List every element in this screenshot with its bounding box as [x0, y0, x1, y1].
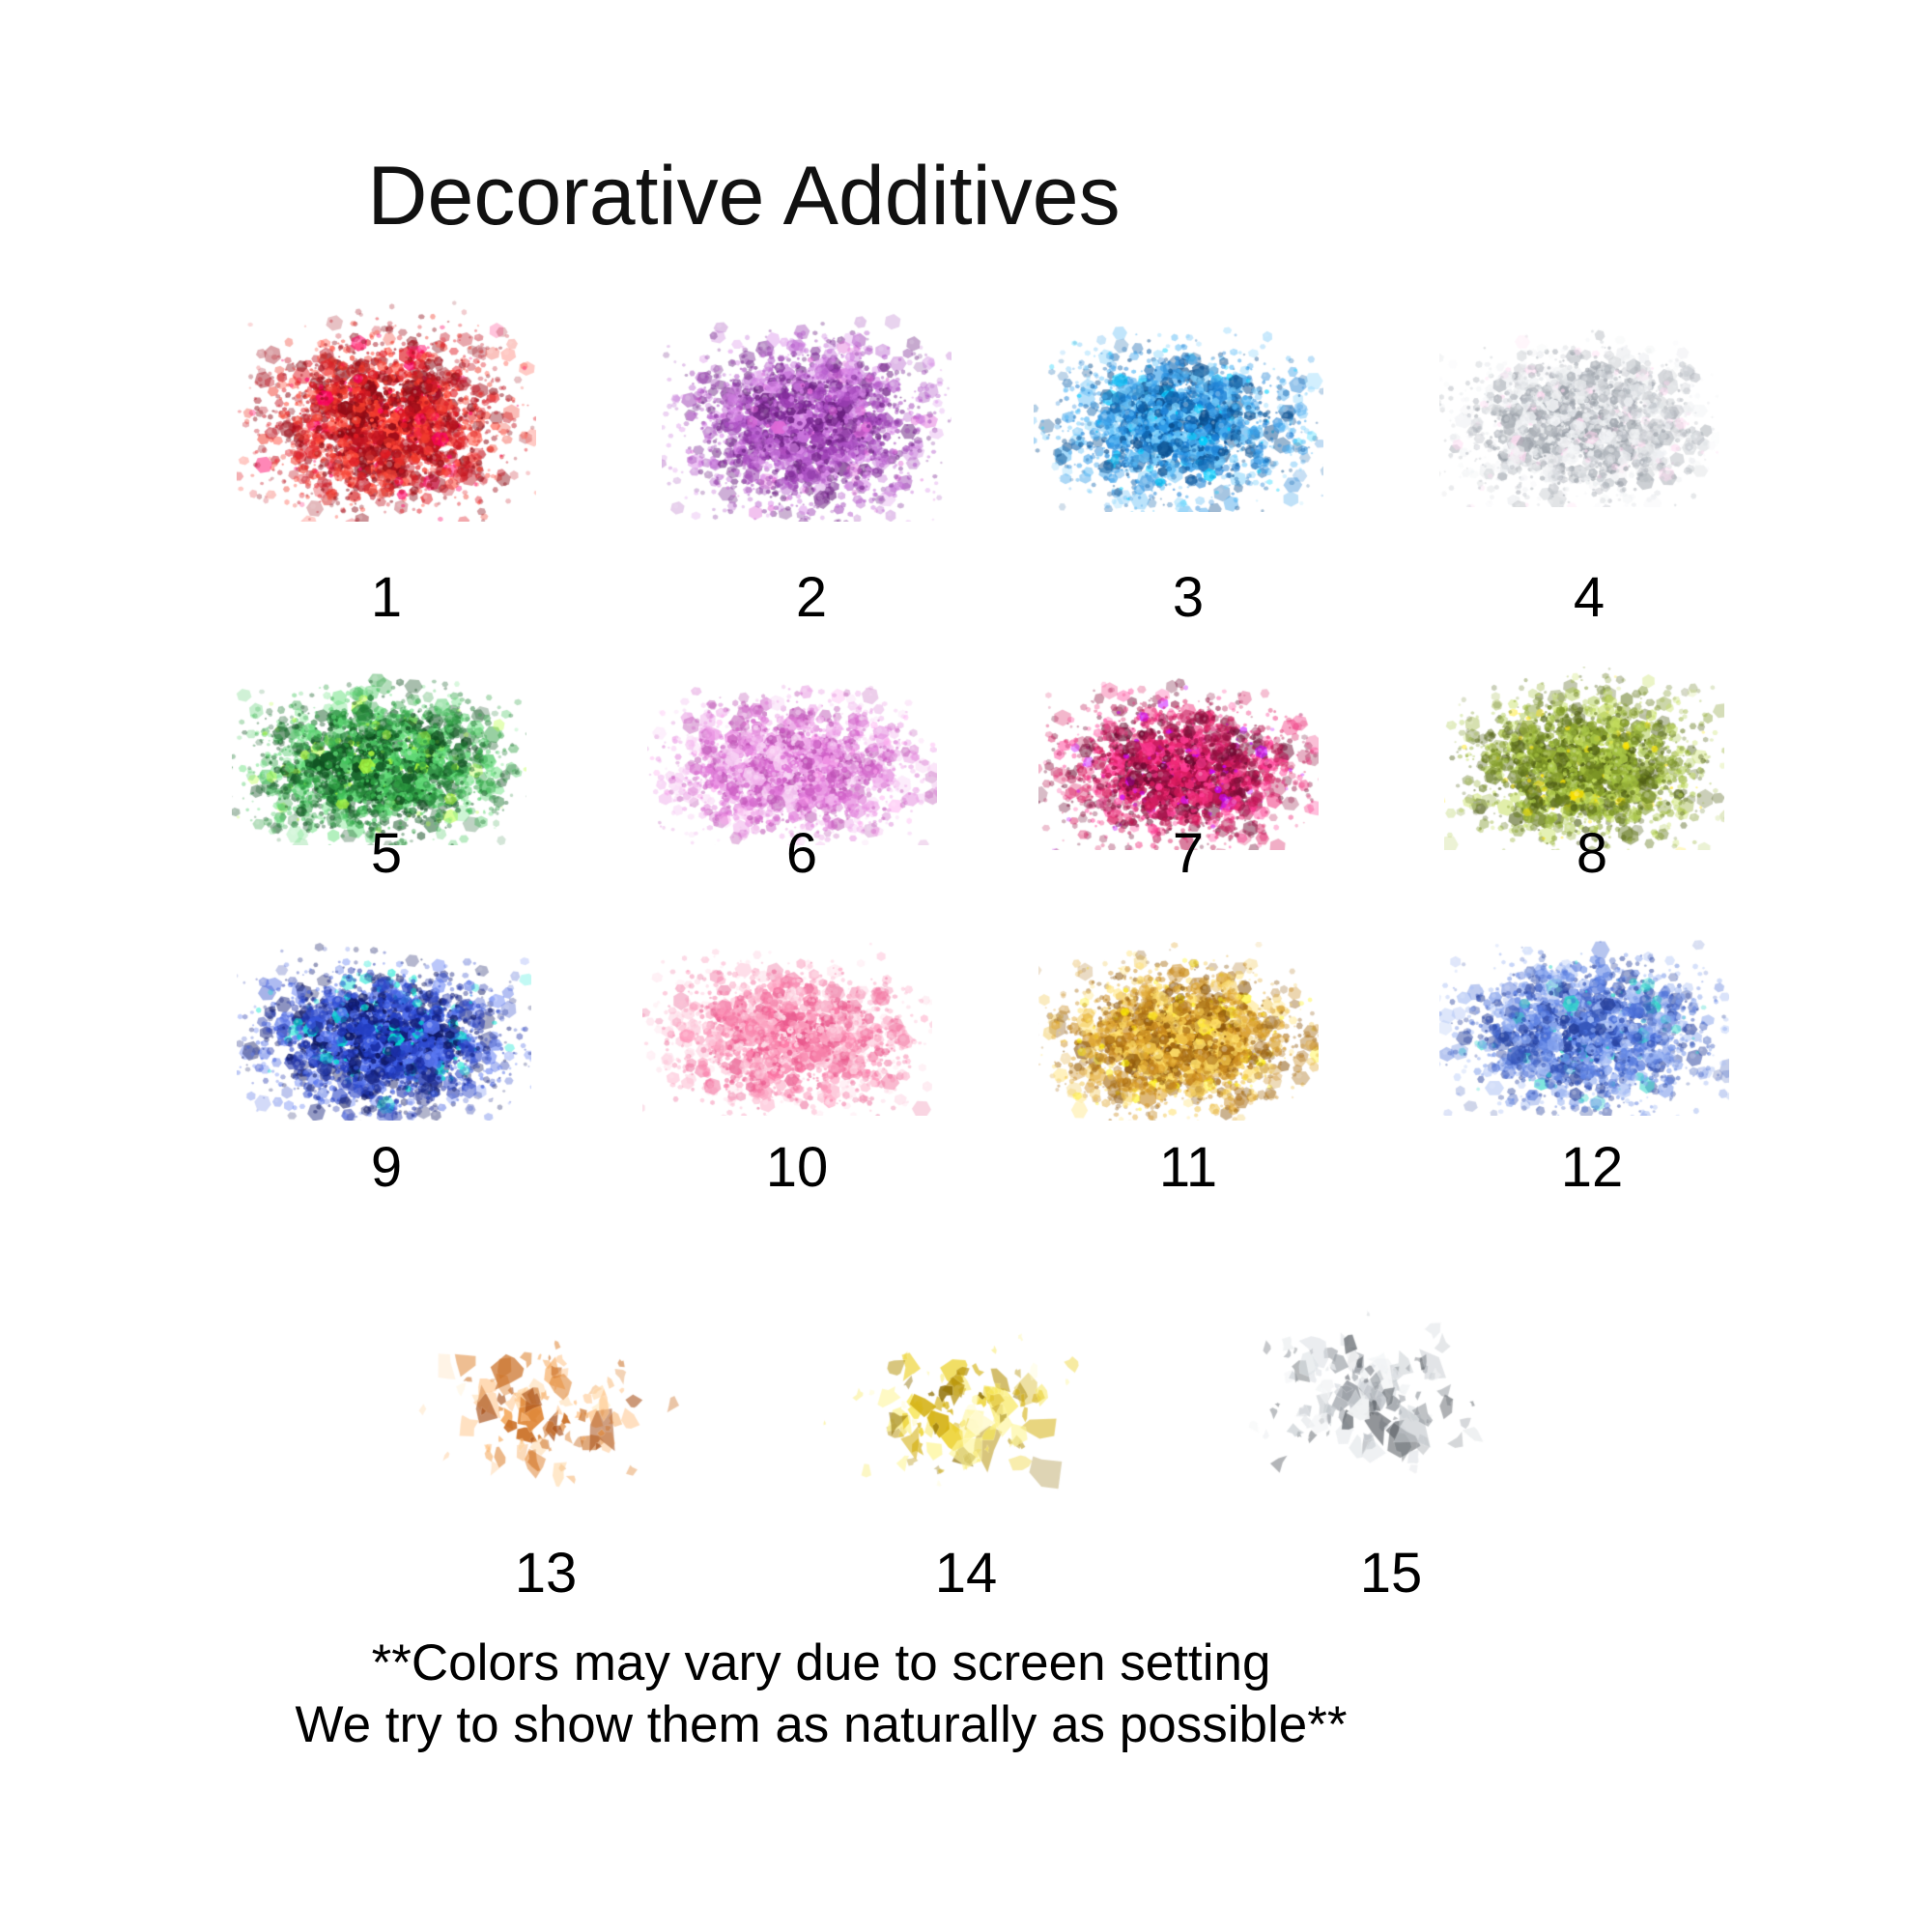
light-orchid-glitter [647, 676, 937, 845]
swatch-label-9: 9 [328, 1140, 444, 1196]
swatch-label-2: 2 [753, 570, 869, 626]
disclaimer-line-2: We try to show them as naturally as poss… [0, 1694, 1642, 1756]
rose-gold-foil-flakes [401, 1314, 686, 1497]
swatch-label-12: 12 [1534, 1140, 1650, 1196]
gold-glitter [1038, 942, 1319, 1121]
swatch-cell-4 [1439, 324, 1719, 507]
swatch-label-15: 15 [1333, 1546, 1449, 1602]
cornflower-blue-glitter [1439, 932, 1729, 1116]
swatch-cell-12 [1439, 932, 1729, 1116]
blue-glitter [1034, 319, 1323, 512]
swatch-cell-15 [1227, 1285, 1497, 1488]
swatch-label-3: 3 [1130, 570, 1246, 626]
swatch-label-1: 1 [328, 570, 444, 626]
swatch-cell-2 [662, 309, 952, 522]
royal-blue-glitter [237, 942, 531, 1121]
swatch-cell-5 [232, 667, 526, 845]
red-glitter [237, 299, 536, 522]
swatch-label-6: 6 [744, 826, 860, 882]
product-info-graphic: Decorative Additives 1234567891011121314… [0, 0, 1932, 1932]
swatch-label-11: 11 [1130, 1140, 1246, 1196]
swatch-cell-3 [1034, 319, 1323, 512]
swatch-label-8: 8 [1534, 826, 1650, 882]
baby-pink-glitter [642, 942, 932, 1116]
swatch-cell-9 [237, 942, 531, 1121]
swatch-cell-11 [1038, 942, 1319, 1121]
swatch-cell-1 [237, 299, 536, 522]
disclaimer-line-1: **Colors may vary due to screen setting [0, 1633, 1642, 1694]
holographic-silver-glitter [1439, 324, 1719, 507]
disclaimer-footer: **Colors may vary due to screen setting … [0, 1633, 1642, 1756]
silver-foil-flakes [1227, 1285, 1497, 1488]
green-glitter [232, 667, 526, 845]
swatch-label-5: 5 [328, 826, 444, 882]
swatch-cell-13 [401, 1314, 686, 1497]
purple-glitter [662, 309, 952, 522]
swatch-label-4: 4 [1531, 570, 1647, 626]
swatch-cell-14 [811, 1309, 1101, 1497]
swatch-label-10: 10 [739, 1140, 855, 1196]
swatch-cell-6 [647, 676, 937, 845]
swatch-label-13: 13 [488, 1546, 604, 1602]
gold-foil-flakes [811, 1309, 1101, 1497]
swatch-label-7: 7 [1130, 826, 1246, 882]
swatch-label-14: 14 [908, 1546, 1024, 1602]
swatch-cell-10 [642, 942, 932, 1116]
page-title: Decorative Additives [0, 155, 1488, 238]
